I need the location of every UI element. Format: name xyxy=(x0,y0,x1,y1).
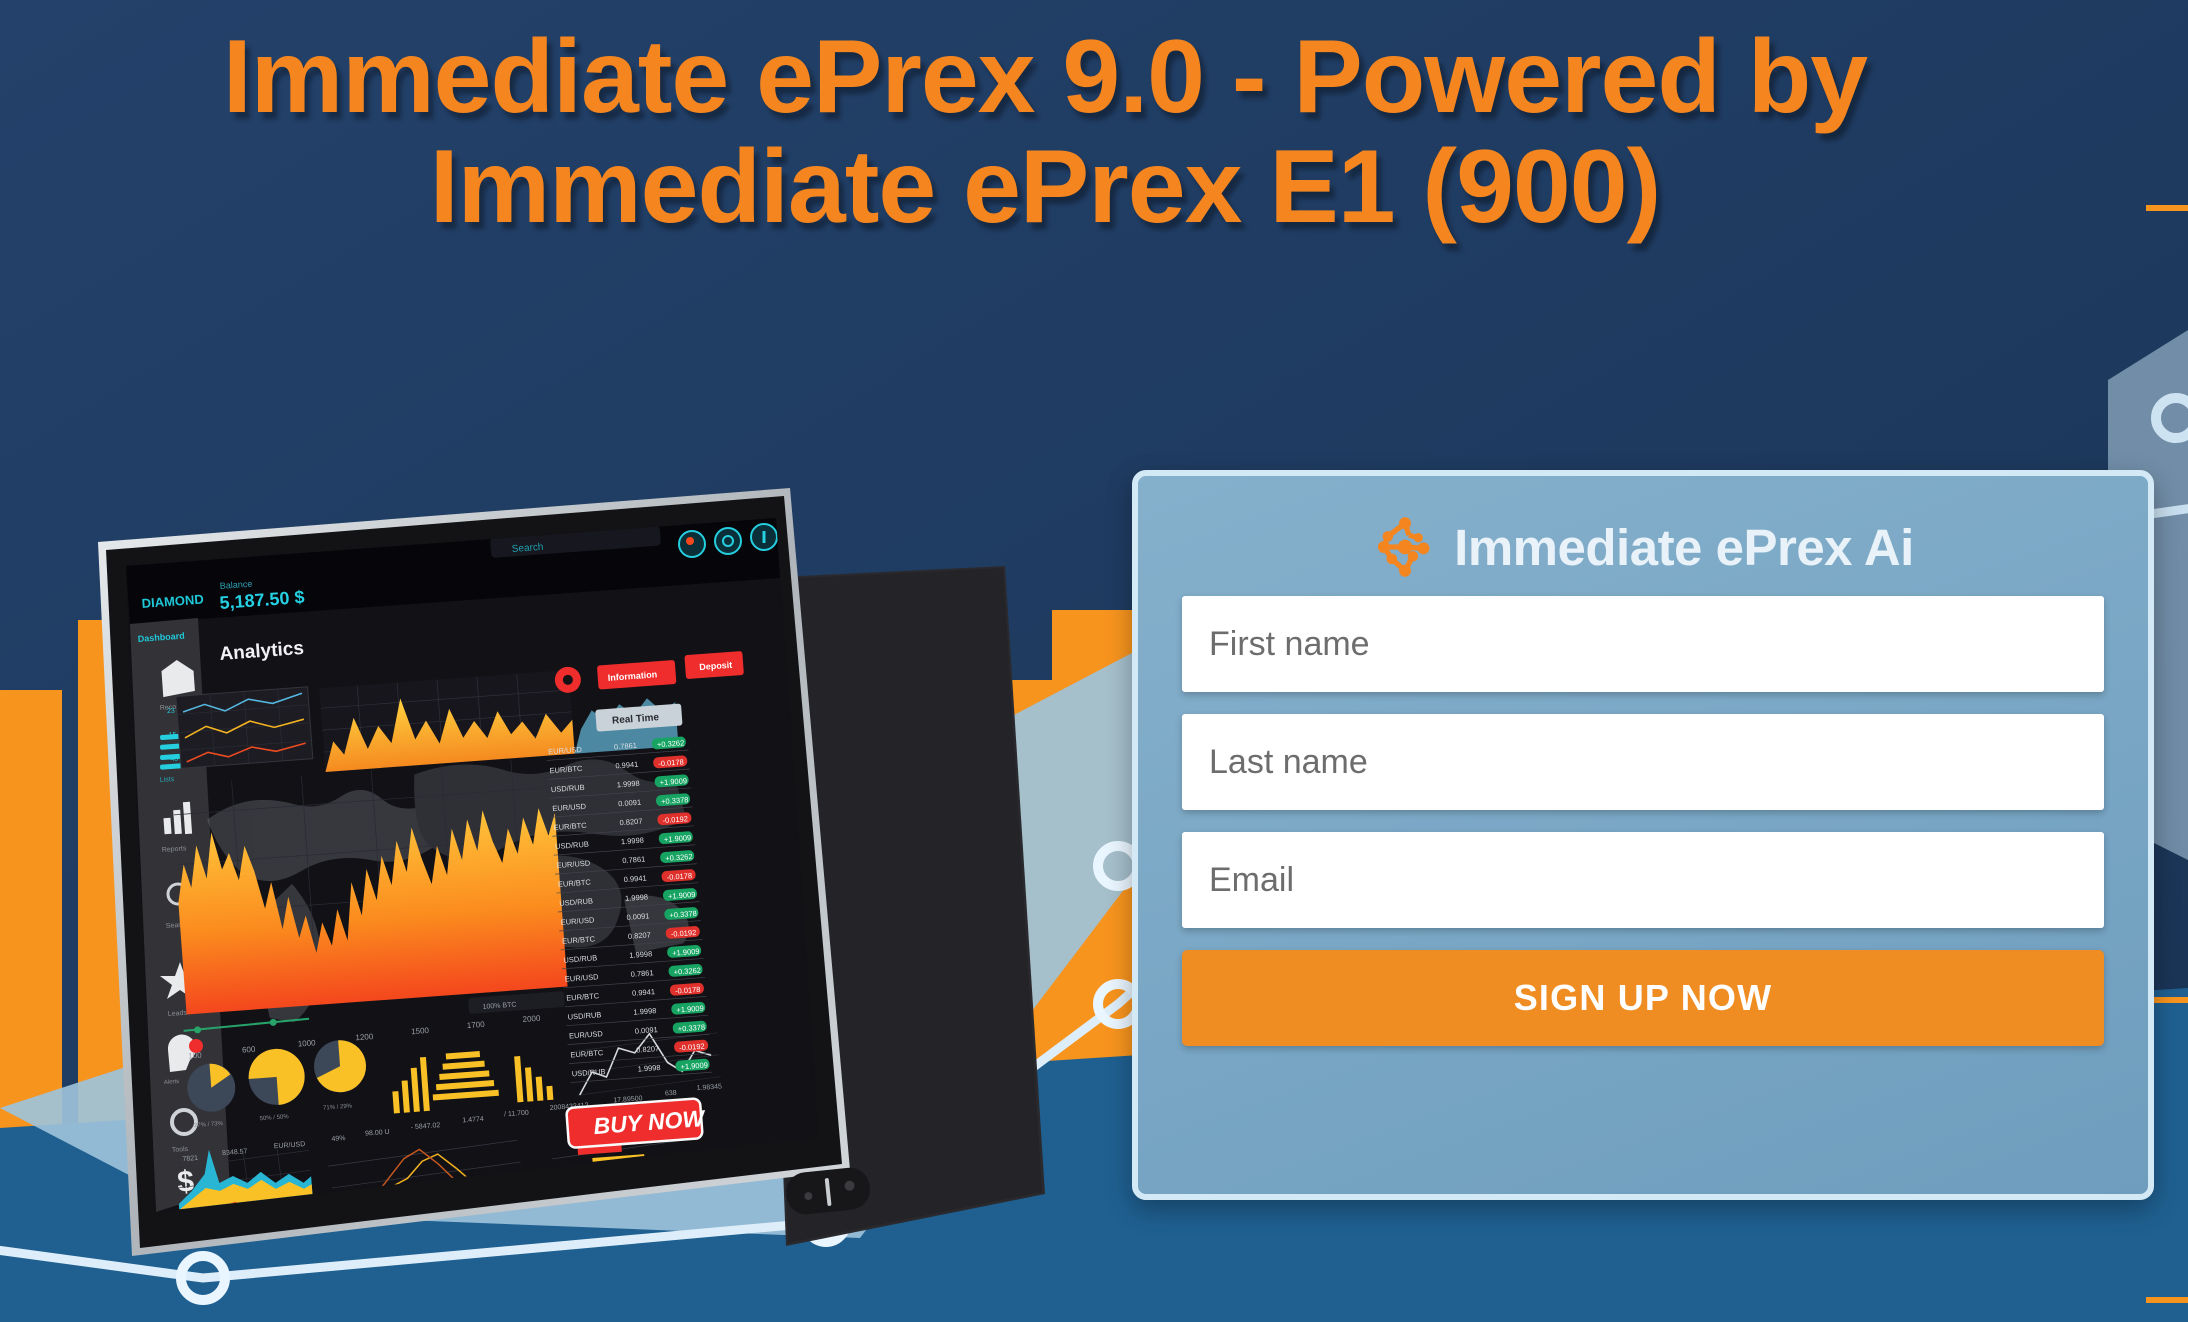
svg-text:0.0091: 0.0091 xyxy=(635,1025,659,1036)
svg-text:1700: 1700 xyxy=(467,1020,486,1030)
svg-text:15: 15 xyxy=(168,732,176,740)
svg-text:2000: 2000 xyxy=(522,1014,541,1024)
svg-text:1.9998: 1.9998 xyxy=(629,949,653,960)
svg-text:0.9941: 0.9941 xyxy=(623,873,647,884)
svg-text:0.9941: 0.9941 xyxy=(615,760,639,771)
svg-text:Alerts: Alerts xyxy=(164,1079,180,1086)
svg-text:0.8207: 0.8207 xyxy=(619,817,643,828)
node-network-diamond-icon xyxy=(1372,514,1438,580)
svg-text:0.7861: 0.7861 xyxy=(622,854,646,865)
svg-text:Leads: Leads xyxy=(168,1010,188,1018)
svg-text:0.9941: 0.9941 xyxy=(632,987,656,998)
svg-text:0.0091: 0.0091 xyxy=(626,911,650,922)
svg-text:-0.0178: -0.0178 xyxy=(666,871,692,882)
svg-text:Lists: Lists xyxy=(160,776,175,784)
svg-text:600: 600 xyxy=(242,1045,257,1055)
landing-page: Immediate ePrex 9.0 - Powered by Immedia… xyxy=(0,0,2188,1322)
svg-text:-0.0192: -0.0192 xyxy=(662,814,688,825)
svg-text:0.0091: 0.0091 xyxy=(618,798,642,809)
svg-text:23: 23 xyxy=(167,708,175,716)
svg-text:7821: 7821 xyxy=(182,1155,198,1163)
brand-name: Immediate ePrex Ai xyxy=(1454,518,1914,577)
tablet-buy-now-button[interactable]: BUY NOW xyxy=(566,1098,708,1148)
first-name-input[interactable] xyxy=(1182,596,2104,692)
svg-text:1.9998: 1.9998 xyxy=(621,836,645,847)
svg-text:-0.0192: -0.0192 xyxy=(671,928,697,939)
svg-text:-0.0178: -0.0178 xyxy=(675,985,701,996)
svg-text:638: 638 xyxy=(665,1090,677,1098)
svg-text:49%: 49% xyxy=(331,1135,345,1143)
sign-up-button[interactable]: SIGN UP NOW xyxy=(1182,950,2104,1046)
svg-text:Tools: Tools xyxy=(172,1146,189,1154)
svg-text:0.8207: 0.8207 xyxy=(636,1044,660,1055)
tablet-mini-chart-panel: 23 15 45 xyxy=(166,687,313,769)
svg-text:-0.0192: -0.0192 xyxy=(679,1042,705,1053)
svg-text:1.9998: 1.9998 xyxy=(616,779,640,790)
tablet-search-placeholder: Search xyxy=(511,542,543,555)
brand-row: Immediate ePrex Ai xyxy=(1182,498,2104,596)
tablet-device-mockup: DIAMOND Balance 5,187.50 $ Search Dashbo… xyxy=(60,470,1060,1270)
tablet-illustration: DIAMOND Balance 5,187.50 $ Search Dashbo… xyxy=(60,470,1060,1270)
svg-text:0.7861: 0.7861 xyxy=(614,741,638,752)
svg-text:1.9998: 1.9998 xyxy=(637,1063,661,1074)
svg-text:-0.0178: -0.0178 xyxy=(658,757,684,768)
svg-text:1.9998: 1.9998 xyxy=(625,892,649,903)
svg-text:0.8207: 0.8207 xyxy=(628,930,652,941)
svg-text:100: 100 xyxy=(188,1051,203,1061)
svg-text:1200: 1200 xyxy=(355,1032,374,1042)
svg-text:1.9998: 1.9998 xyxy=(633,1006,657,1017)
svg-text:1500: 1500 xyxy=(411,1026,430,1036)
email-input[interactable] xyxy=(1182,832,2104,928)
svg-text:0.7861: 0.7861 xyxy=(630,968,654,979)
svg-text:45: 45 xyxy=(170,755,178,763)
svg-text:1000: 1000 xyxy=(297,1038,316,1048)
last-name-input[interactable] xyxy=(1182,714,2104,810)
signup-form-card: Immediate ePrex Ai SIGN UP NOW xyxy=(1132,470,2154,1200)
